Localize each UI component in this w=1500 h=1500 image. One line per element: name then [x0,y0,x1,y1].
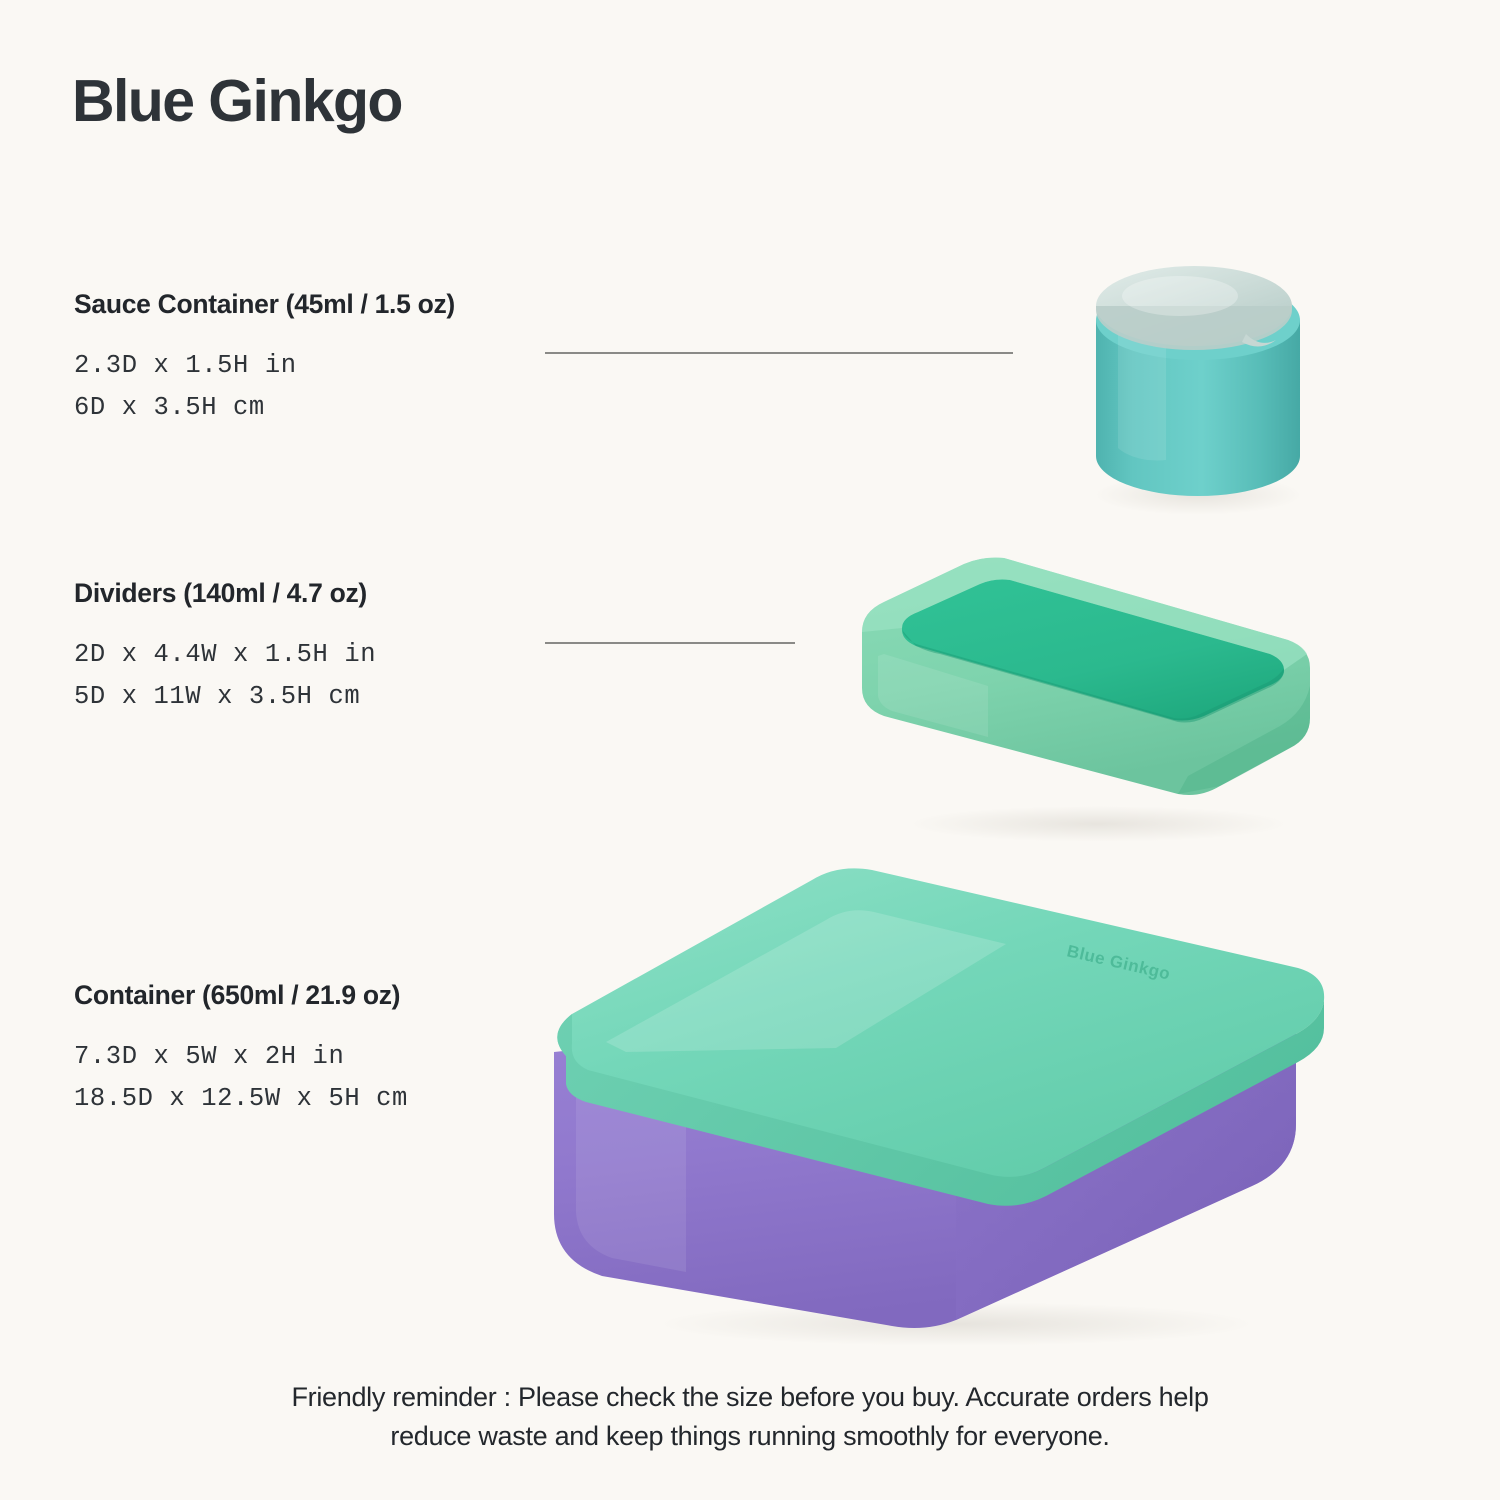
spec-block-container: Container (650ml / 21.9 oz) 7.3D x 5W x … [74,980,408,1120]
spec-dimensions-dividers: 2D x 4.4W x 1.5H in 5D x 11W x 3.5H cm [74,634,376,718]
product-image-dividers [848,536,1328,848]
sauce-container-illustration [1048,248,1348,528]
product-image-sauce-container [1048,248,1348,528]
footer-reminder-line-1: Friendly reminder : Please check the siz… [0,1378,1500,1417]
dividers-illustration [848,536,1328,848]
footer-reminder-line-2: reduce waste and keep things running smo… [0,1417,1500,1456]
spec-dim-inches-dividers: 2D x 4.4W x 1.5H in [74,634,376,676]
sauce-container-lid-gloss [1122,276,1238,316]
dividers-shadow [908,806,1288,842]
spec-dimensions-sauce-container: 2.3D x 1.5H in 6D x 3.5H cm [74,345,455,429]
spec-title-sauce-container: Sauce Container (45ml / 1.5 oz) [74,289,455,321]
spec-dim-inches-sauce-container: 2.3D x 1.5H in [74,345,455,387]
spec-dim-inches-container: 7.3D x 5W x 2H in [74,1036,408,1078]
spec-title-container: Container (650ml / 21.9 oz) [74,980,408,1012]
brand-logo: Blue Ginkgo [72,72,402,131]
footer-reminder-note: Friendly reminder : Please check the siz… [0,1378,1500,1456]
leader-line-sauce-container [545,352,1013,354]
spec-dim-cm-container: 18.5D x 12.5W x 5H cm [74,1078,408,1120]
spec-block-sauce-container: Sauce Container (45ml / 1.5 oz) 2.3D x 1… [74,289,455,429]
spec-block-dividers: Dividers (140ml / 4.7 oz) 2D x 4.4W x 1.… [74,578,376,718]
spec-title-dividers: Dividers (140ml / 4.7 oz) [74,578,376,610]
product-dimensions-infographic: Blue Ginkgo Sauce Container (45ml / 1.5 … [0,0,1500,1500]
spec-dimensions-container: 7.3D x 5W x 2H in 18.5D x 12.5W x 5H cm [74,1036,408,1120]
product-image-container: Blue Ginkgo [536,856,1336,1348]
leader-line-dividers [545,642,795,644]
spec-dim-cm-sauce-container: 6D x 3.5H cm [74,387,455,429]
spec-dim-cm-dividers: 5D x 11W x 3.5H cm [74,676,376,718]
container-illustration: Blue Ginkgo [536,856,1336,1348]
